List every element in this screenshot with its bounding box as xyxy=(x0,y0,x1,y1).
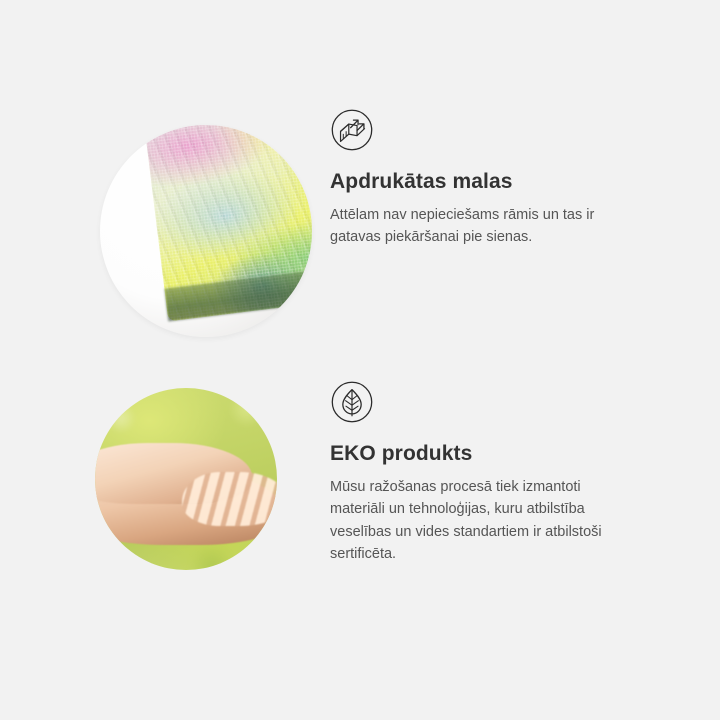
description-line: Attēlam nav nepieciešams rāmis un tas ir xyxy=(330,204,664,226)
description-line: materiāli un tehnoloģijas, kuru atbilstī… xyxy=(330,498,664,520)
feature-item-eco-product: EKO produkts Mūsu ražošanas procesā tiek… xyxy=(0,380,720,620)
feature-item-printed-edges: Apdrukātas malas Attēlam nav nepieciešam… xyxy=(0,108,720,348)
printed-edges-icon xyxy=(330,108,374,152)
feature-title: EKO produkts xyxy=(330,442,720,466)
feature-description: Attēlam nav nepieciešams rāmis un tas ir… xyxy=(330,204,664,249)
feature-description: Mūsu ražošanas procesā tiek izmantoti ma… xyxy=(330,476,664,566)
canvas-corner-photo xyxy=(0,108,330,348)
feature-list: Apdrukātas malas Attēlam nav nepieciešam… xyxy=(0,0,720,720)
feature-content-eco-product: EKO produkts Mūsu ražošanas procesā tiek… xyxy=(330,380,720,566)
feature-title: Apdrukātas malas xyxy=(330,170,720,194)
description-line: gatavas piekāršanai pie sienas. xyxy=(330,226,664,248)
description-line: sertificēta. xyxy=(330,543,664,565)
eco-photo-circle xyxy=(95,388,277,570)
canvas-photo-circle xyxy=(100,125,312,337)
description-line: veselības un vides standartiem ir atbils… xyxy=(330,521,664,543)
canvas-artwork xyxy=(144,125,312,321)
feature-content-printed-edges: Apdrukātas malas Attēlam nav nepieciešam… xyxy=(330,108,720,249)
wood-chips-hands-photo xyxy=(0,380,330,620)
leaf-icon xyxy=(330,380,374,424)
description-line: Mūsu ražošanas procesā tiek izmantoti xyxy=(330,476,664,498)
fingers xyxy=(182,472,277,527)
